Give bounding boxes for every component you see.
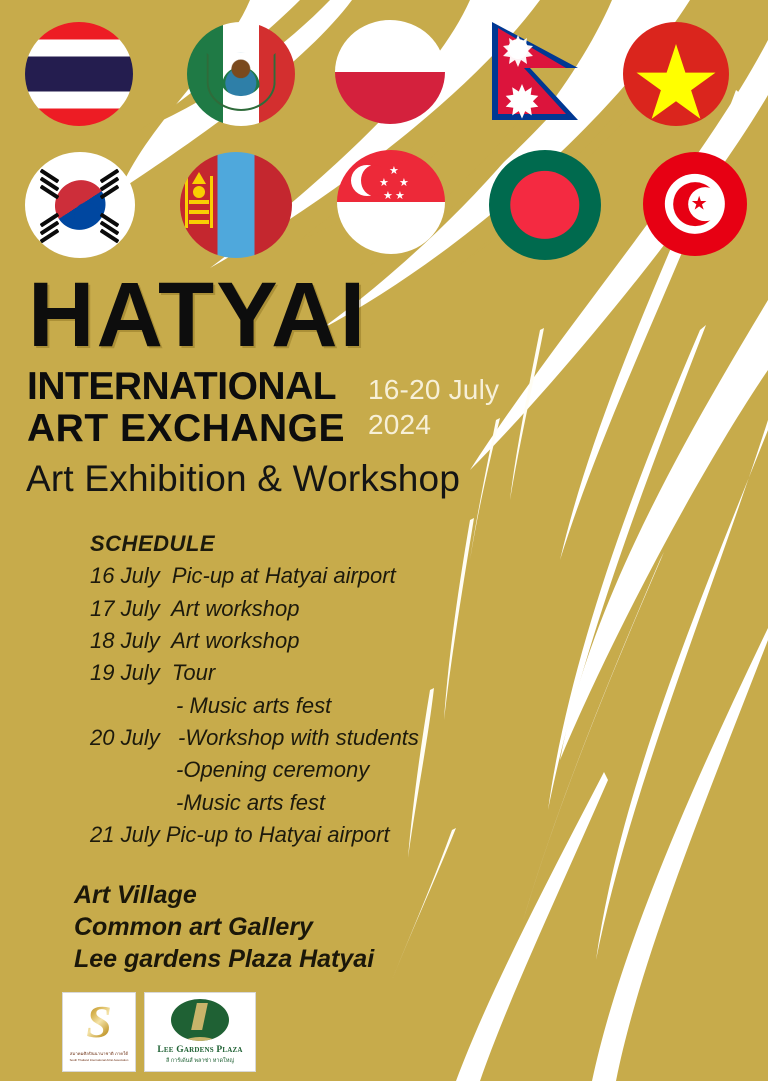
mongolia-soyombo-bar xyxy=(189,200,209,204)
stia-s-monogram-icon: S xyxy=(77,997,121,1047)
singapore-star: ★ xyxy=(389,166,399,177)
stia-english-name: South Thailand International Artist Asso… xyxy=(70,1058,129,1062)
venue-line-3: Lee gardens Plaza Hatyai xyxy=(74,943,374,975)
schedule-row: 16 July Pic-up at Hatyai airport xyxy=(90,560,419,592)
tunisia-star: ★ xyxy=(691,195,708,214)
mongolia-soyombo-fire xyxy=(192,172,206,184)
lee-gardens-l-monogram-icon xyxy=(171,999,229,1041)
singapore-star: ★ xyxy=(395,191,405,202)
lee-gardens-name: Lee Gardens Plaza xyxy=(157,1045,242,1055)
singapore-star: ★ xyxy=(399,178,409,189)
schedule-row: 18 July Art workshop xyxy=(90,625,419,657)
event-tagline: Art Exhibition & Workshop xyxy=(26,458,460,500)
mongolia-soyombo-sun xyxy=(193,186,205,198)
schedule-row: 17 July Art workshop xyxy=(90,593,419,625)
mongolia-soyombo-pillar xyxy=(185,176,188,228)
nepal-flag xyxy=(482,16,594,128)
mongolia-soyombo-pillar xyxy=(210,176,213,228)
subtitle-line-2: ART EXCHANGE xyxy=(27,408,345,450)
nepal-pennant-shape xyxy=(482,16,594,128)
event-dates-line-2: 2024 xyxy=(368,407,499,442)
south-korea-flag xyxy=(25,152,135,258)
event-dates: 16-20 July 2024 xyxy=(368,372,499,442)
logo-strip: S สมาคมศิลปินนานาชาติ ภาคใต้ South Thail… xyxy=(62,992,256,1072)
venue-line-2: Common art Gallery xyxy=(74,911,374,943)
venue-line-1: Art Village xyxy=(74,879,374,911)
poster-canvas: ★ ★ ★ ★ ★ ★ HATYAI INTERNATIONAL ART EXC… xyxy=(0,0,768,1081)
stia-thai-name: สมาคมศิลปินนานาชาติ ภาคใต้ xyxy=(70,1050,128,1057)
event-dates-line-1: 16-20 July xyxy=(368,372,499,407)
vietnam-star xyxy=(623,22,729,126)
vietnam-flag xyxy=(623,22,729,126)
bangladesh-flag xyxy=(489,150,601,260)
mexico-flag xyxy=(187,22,295,126)
schedule-row: -Opening ceremony xyxy=(90,754,419,786)
schedule-row: - Music arts fest xyxy=(90,690,419,722)
lee-gardens-thai-name: ลี การ์เด้นส์ พลาซ่า หาดใหญ่ xyxy=(166,1057,234,1065)
subtitle-block: INTERNATIONAL ART EXCHANGE xyxy=(27,366,345,450)
mongolia-soyombo-bar xyxy=(189,210,209,214)
bangladesh-disc xyxy=(510,171,579,239)
schedule-row: 19 July Tour xyxy=(90,657,419,689)
lee-gardens-plaza-logo: Lee Gardens Plaza ลี การ์เด้นส์ พลาซ่า ห… xyxy=(144,992,256,1072)
schedule-row: 21 July Pic-up to Hatyai airport xyxy=(90,819,419,851)
tunisia-flag: ★ xyxy=(643,152,747,256)
schedule-row: -Music arts fest xyxy=(90,787,419,819)
venue-block: Art Village Common art Gallery Lee garde… xyxy=(74,879,374,975)
schedule-block: SCHEDULE 16 July Pic-up at Hatyai airpor… xyxy=(90,528,419,851)
singapore-flag: ★ ★ ★ ★ ★ xyxy=(337,150,445,254)
schedule-row: 20 July -Workshop with students xyxy=(90,722,419,754)
poland-flag xyxy=(335,20,445,124)
schedule-heading: SCHEDULE xyxy=(90,528,419,560)
singapore-star: ★ xyxy=(379,178,389,189)
singapore-star: ★ xyxy=(383,191,393,202)
mexico-coat-of-arms xyxy=(218,52,263,96)
mongolia-flag xyxy=(180,152,292,258)
subtitle-line-1: INTERNATIONAL xyxy=(27,366,345,408)
thailand-flag xyxy=(25,22,133,126)
stia-logo: S สมาคมศิลปินนานาชาติ ภาคใต้ South Thail… xyxy=(62,992,136,1072)
mongolia-soyombo-bar xyxy=(189,220,209,224)
page-title: HATYAI xyxy=(28,272,367,359)
